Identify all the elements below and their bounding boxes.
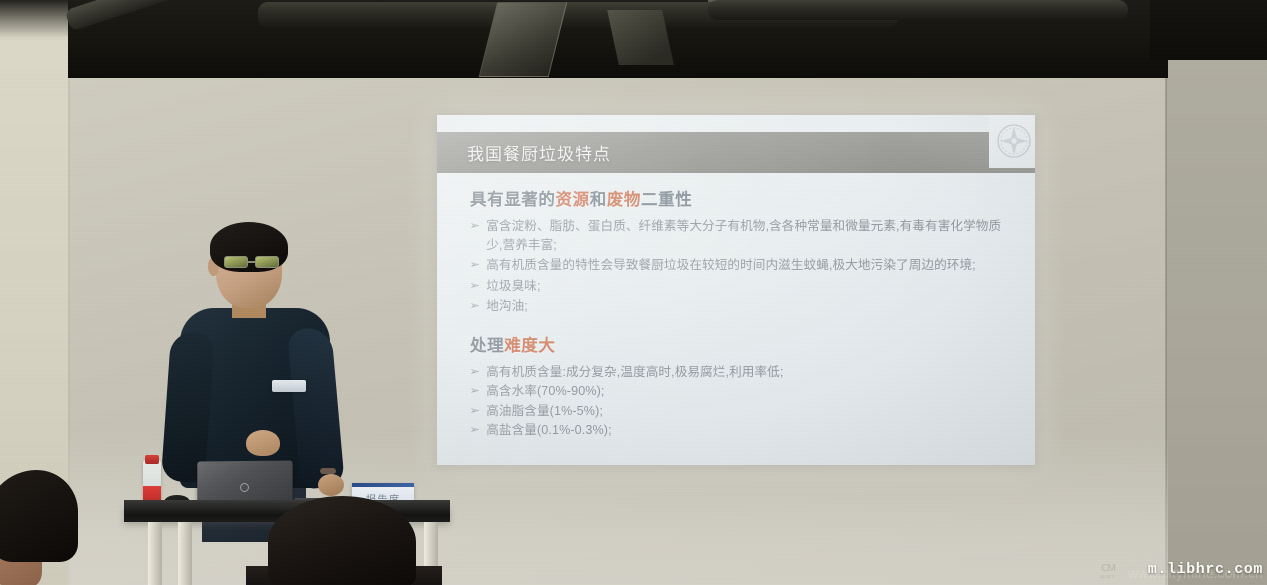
bullet-arrow-icon: ➢ [469, 277, 480, 296]
ceiling-edge-right [1150, 0, 1267, 60]
audience-member-center-head [268, 496, 416, 585]
laptop-brand-logo-icon [240, 483, 249, 492]
slide-content: 具有显著的资源和废物二重性 ➢ 富含淀粉、脂肪、蛋白质、纤维素等大分子有机物,含… [437, 173, 1035, 465]
bullet-text: 高含水率(70%-90%); [486, 382, 1007, 401]
water-bottle-cap [145, 455, 159, 464]
citymine-logo-glyph: CM [1101, 564, 1115, 574]
photo-scene: 我国餐厨垃圾特点 具有显著的资源和废物二重性 ➢ 富含淀粉、脂肪、蛋白质、纤维素… [0, 0, 1267, 585]
bullet-arrow-icon: ➢ [469, 421, 480, 440]
presenter-left-hand [246, 430, 280, 456]
bullet-arrow-icon: ➢ [469, 297, 480, 316]
watermark-primary: m.libhrc.com [1148, 561, 1263, 578]
bullet-text: 地沟油; [486, 297, 1007, 316]
ceiling-edge-left [0, 0, 70, 40]
citymine-logo-subtext: 城市矿产 [1100, 575, 1115, 580]
wall-panel-right [1166, 55, 1267, 585]
tent-card-accent-bar [352, 483, 414, 487]
slide-bullet-list-2: ➢ 高有机质含量:成分复杂,温度高时,极易腐烂,利用率低; ➢ 高含水率(70%… [470, 363, 1007, 440]
podium-leg [178, 522, 192, 585]
slide-title-bar: 我国餐厨垃圾特点 [437, 132, 1035, 173]
ceiling-duct-diagonal-left [65, 0, 214, 31]
presenter-name-badge [272, 380, 306, 392]
glasses-lens-left [224, 256, 248, 268]
heading-accent-part: 废物 [607, 191, 641, 209]
compass-rose-emblem-logo-icon [989, 115, 1035, 168]
bullet-text: 高盐含量(0.1%-0.3%); [486, 421, 1007, 440]
slide-title: 我国餐厨垃圾特点 [467, 140, 611, 165]
list-item: ➢ 高油脂含量(1%-5%); [470, 402, 1007, 421]
list-item: ➢ 高盐含量(0.1%-0.3%); [470, 421, 1007, 440]
presenter-wristwatch [320, 468, 336, 474]
bullet-arrow-icon: ➢ [469, 363, 480, 382]
bullet-arrow-icon: ➢ [469, 402, 480, 421]
heading-part: 和 [590, 191, 607, 209]
heading-part: 处理 [470, 337, 504, 355]
list-item: ➢ 高有机质含量的特性会导致餐厨垃圾在较短的时间内滋生蚊蝇,极大地污染了周边的环… [470, 256, 1007, 275]
citymine-logo-icon: CM 城市矿产 [1099, 564, 1117, 579]
slide-section-heading-1: 具有显著的资源和废物二重性 [470, 186, 1007, 210]
bullet-arrow-icon: ➢ [469, 217, 480, 236]
bullet-text: 高有机质含量的特性会导致餐厨垃圾在较短的时间内滋生蚊蝇,极大地污染了周边的环境; [486, 256, 1007, 275]
bullet-arrow-icon: ➢ [469, 256, 480, 275]
list-item: ➢ 垃圾臭味; [470, 277, 1007, 296]
projected-slide: 我国餐厨垃圾特点 具有显著的资源和废物二重性 ➢ 富含淀粉、脂肪、蛋白质、纤维素… [437, 115, 1035, 465]
bullet-text: 富含淀粉、脂肪、蛋白质、纤维素等大分子有机物,含各种常量和微量元素,有毒有害化学… [486, 217, 1007, 255]
list-item: ➢ 高含水率(70%-90%); [470, 382, 1007, 401]
bullet-arrow-icon: ➢ [469, 382, 480, 401]
ceiling-duct-horizontal-2 [708, 0, 1128, 20]
ceiling-truss-beam-2 [607, 10, 674, 65]
list-item: ➢ 地沟油; [470, 297, 1007, 316]
bullet-text: 高有机质含量:成分复杂,温度高时,极易腐烂,利用率低; [486, 363, 1007, 382]
ceiling-dark [68, 0, 1168, 78]
glasses-icon [224, 256, 282, 268]
list-item: ➢ 富含淀粉、脂肪、蛋白质、纤维素等大分子有机物,含各种常量和微量元素,有毒有害… [470, 217, 1007, 255]
heading-part: 二重性 [641, 191, 692, 209]
heading-part: 具有显著的 [470, 191, 556, 209]
podium-leg [148, 522, 162, 585]
slide-bullet-list-1: ➢ 富含淀粉、脂肪、蛋白质、纤维素等大分子有机物,含各种常量和微量元素,有毒有害… [470, 217, 1007, 316]
slide-section-heading-2: 处理难度大 [470, 332, 1007, 356]
bullet-text: 高油脂含量(1%-5%); [486, 402, 1007, 421]
presenter-right-hand [318, 474, 344, 496]
bullet-text: 垃圾臭味; [486, 277, 1007, 296]
glasses-lens-right [255, 256, 279, 268]
list-item: ➢ 高有机质含量:成分复杂,温度高时,极易腐烂,利用率低; [470, 363, 1007, 382]
heading-accent-part: 资源 [556, 191, 590, 209]
heading-accent-part: 难度大 [504, 337, 555, 355]
audience-member-left-hair [0, 470, 78, 562]
